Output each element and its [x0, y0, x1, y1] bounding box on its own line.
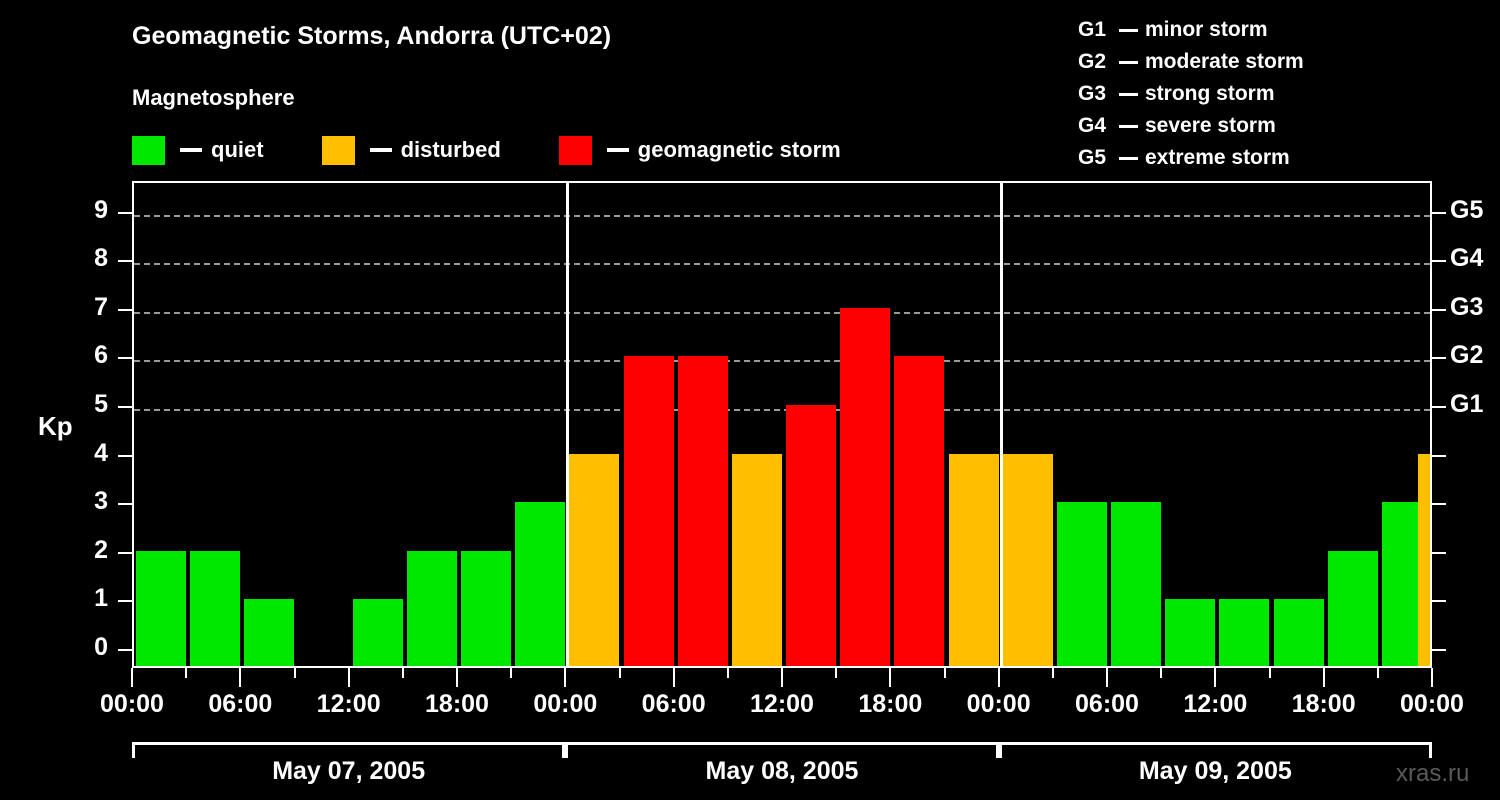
g-scale-row-g5: G5extreme storm [1078, 142, 1478, 174]
y-tick-label-kp-5: 5 [68, 390, 108, 419]
x-tick-mark [673, 668, 675, 687]
legend-dash-icon [607, 148, 629, 152]
y-tick-label-kp-4: 4 [68, 439, 108, 468]
legend-label-storm: geomagnetic storm [638, 137, 841, 163]
x-tick-mark-minor [185, 668, 187, 678]
chart-root: Geomagnetic Storms, Andorra (UTC+02) Mag… [0, 0, 1500, 800]
bar [732, 454, 782, 666]
x-tick-mark [131, 668, 133, 687]
day-separator [566, 183, 569, 666]
g-scale-dash-icon [1119, 93, 1138, 96]
y2-tick-label-g5: G5 [1450, 196, 1500, 225]
bar [1057, 502, 1107, 666]
bar [1111, 502, 1161, 666]
g-scale-code: G1 [1078, 18, 1112, 42]
y-tick-mark [118, 406, 132, 408]
bar [678, 356, 728, 666]
x-tick-mark-minor [1377, 668, 1379, 678]
bar [569, 454, 619, 666]
day-bracket [132, 742, 565, 758]
x-tick-label: 00:00 [1372, 690, 1492, 719]
bar [1274, 599, 1324, 666]
y-tick-label-kp-7: 7 [68, 293, 108, 322]
x-tick-mark [1214, 668, 1216, 687]
x-tick-mark [348, 668, 350, 687]
y2-tick-label-g3: G3 [1450, 293, 1500, 322]
g-scale-dash-icon [1119, 157, 1138, 160]
x-tick-label: 18:00 [1264, 690, 1384, 719]
y-tick-mark [118, 357, 132, 359]
y-tick-label-kp-3: 3 [68, 487, 108, 516]
g-scale-text: extreme storm [1145, 146, 1290, 170]
g-scale-dash-icon [1119, 29, 1138, 32]
y2-tick-mark [1432, 357, 1446, 359]
y2-tick-mark-minor [1432, 600, 1446, 602]
x-tick-label: 12:00 [289, 690, 409, 719]
x-tick-mark-minor [727, 668, 729, 678]
x-tick-mark-minor [510, 668, 512, 678]
x-tick-label: 06:00 [180, 690, 300, 719]
x-tick-label: 12:00 [722, 690, 842, 719]
y-tick-mark [118, 455, 132, 457]
x-tick-label: 00:00 [505, 690, 625, 719]
legend-label-quiet: quiet [211, 137, 264, 163]
y-tick-label-kp-6: 6 [68, 341, 108, 370]
y-tick-mark [118, 260, 132, 262]
y-tick-mark [118, 503, 132, 505]
bar [1328, 551, 1378, 666]
g-scale-dash-icon [1119, 125, 1138, 128]
legend-item-quiet: quiet [132, 134, 264, 166]
bar [786, 405, 836, 666]
bar [353, 599, 403, 666]
x-tick-mark [1106, 668, 1108, 687]
g-scale-text: moderate storm [1145, 50, 1304, 74]
y2-tick-mark [1432, 406, 1446, 408]
x-tick-mark-minor [1269, 668, 1271, 678]
bar [515, 502, 565, 666]
legend-label-disturbed: disturbed [401, 137, 501, 163]
y2-tick-label-g2: G2 [1450, 341, 1500, 370]
g-scale-row-g2: G2moderate storm [1078, 46, 1478, 78]
g-scale-text: severe storm [1145, 114, 1276, 138]
y2-tick-mark-minor [1432, 552, 1446, 554]
page-title: Geomagnetic Storms, Andorra (UTC+02) [132, 22, 611, 51]
x-tick-label: 06:00 [614, 690, 734, 719]
bar [461, 551, 511, 666]
g-scale-row-g3: G3strong storm [1078, 78, 1478, 110]
x-tick-label: 18:00 [397, 690, 517, 719]
y2-tick-mark [1432, 260, 1446, 262]
day-separator [1000, 183, 1003, 666]
gridline-kp-6 [134, 360, 1430, 362]
day-bracket [565, 742, 998, 758]
y-tick-mark [118, 600, 132, 602]
day-label: May 09, 2005 [999, 757, 1432, 786]
x-tick-mark [1431, 668, 1433, 687]
x-tick-label: 06:00 [1047, 690, 1167, 719]
x-tick-label: 00:00 [939, 690, 1059, 719]
y-tick-label-kp-9: 9 [68, 196, 108, 225]
g-scale-text: minor storm [1145, 18, 1268, 42]
gridline-kp-7 [134, 312, 1430, 314]
legend-item-disturbed: disturbed [322, 134, 501, 166]
x-tick-mark [239, 668, 241, 687]
x-tick-mark [889, 668, 891, 687]
watermark: xras.ru [1396, 760, 1469, 788]
legend-heading: Magnetosphere [132, 85, 295, 111]
legend-swatch-quiet [132, 136, 165, 165]
bar [624, 356, 674, 666]
g-scale-text: strong storm [1145, 82, 1275, 106]
x-tick-mark [998, 668, 1000, 687]
y-tick-mark [118, 309, 132, 311]
plot-area [132, 181, 1432, 668]
bar [949, 454, 999, 666]
bar [840, 308, 890, 666]
day-label: May 08, 2005 [565, 757, 998, 786]
y2-tick-label-g4: G4 [1450, 244, 1500, 273]
day-label: May 07, 2005 [132, 757, 565, 786]
y-tick-mark [118, 212, 132, 214]
bar [894, 356, 944, 666]
x-tick-label: 00:00 [72, 690, 192, 719]
g-scale-code: G5 [1078, 146, 1112, 170]
g-scale-row-g4: G4severe storm [1078, 110, 1478, 142]
g-scale-code: G4 [1078, 114, 1112, 138]
x-tick-label: 18:00 [830, 690, 950, 719]
gridline-kp-9 [134, 215, 1430, 217]
day-bracket [999, 742, 1432, 758]
legend-dash-icon [370, 148, 392, 152]
x-tick-label: 12:00 [1155, 690, 1275, 719]
gridline-kp-5 [134, 409, 1430, 411]
x-tick-mark-minor [835, 668, 837, 678]
y-tick-label-kp-1: 1 [68, 584, 108, 613]
y2-tick-mark-minor [1432, 649, 1446, 651]
bar [1219, 599, 1269, 666]
y2-tick-mark-minor [1432, 455, 1446, 457]
x-tick-mark-minor [944, 668, 946, 678]
y2-tick-mark [1432, 212, 1446, 214]
x-tick-mark-minor [1160, 668, 1162, 678]
g-scale-dash-icon [1119, 61, 1138, 64]
bar [407, 551, 457, 666]
legend-dash-icon [180, 148, 202, 152]
g-scale-code: G2 [1078, 50, 1112, 74]
g-scale-legend: G1minor stormG2moderate stormG3strong st… [1078, 14, 1478, 174]
bar [1165, 599, 1215, 666]
gridline-kp-8 [134, 263, 1430, 265]
x-tick-mark [1323, 668, 1325, 687]
bar [244, 599, 294, 666]
g-scale-row-g1: G1minor storm [1078, 14, 1478, 46]
legend-swatch-storm [559, 136, 592, 165]
bar [136, 551, 186, 666]
x-tick-mark [564, 668, 566, 687]
y-tick-mark [118, 552, 132, 554]
legend-item-storm: geomagnetic storm [559, 134, 841, 166]
y2-tick-label-g1: G1 [1450, 390, 1500, 419]
x-tick-mark-minor [402, 668, 404, 678]
y2-tick-mark [1432, 309, 1446, 311]
legend-swatch-disturbed [322, 136, 355, 165]
bar [1003, 454, 1053, 666]
magnetosphere-legend: quiet disturbed geomagnetic storm [132, 134, 841, 166]
g-scale-code: G3 [1078, 82, 1112, 106]
x-tick-mark [781, 668, 783, 687]
y-tick-label-kp-0: 0 [68, 633, 108, 662]
y-tick-mark [118, 649, 132, 651]
bar [190, 551, 240, 666]
y2-tick-mark-minor [1432, 503, 1446, 505]
bar-partial [1418, 454, 1430, 666]
x-tick-mark-minor [1052, 668, 1054, 678]
y-tick-label-kp-8: 8 [68, 244, 108, 273]
y-tick-label-kp-2: 2 [68, 536, 108, 565]
x-tick-mark [456, 668, 458, 687]
x-tick-mark-minor [294, 668, 296, 678]
x-tick-mark-minor [619, 668, 621, 678]
